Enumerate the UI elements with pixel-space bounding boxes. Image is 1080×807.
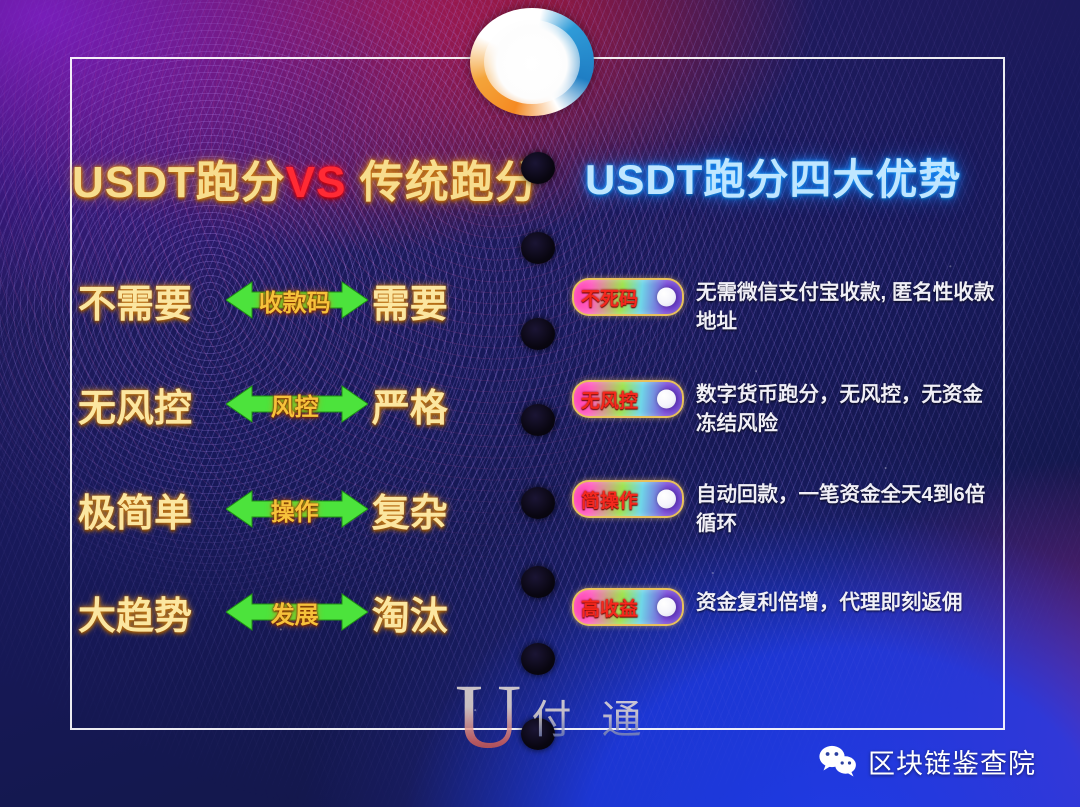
advantage-description: 数字货币跑分，无风控，无资金冻结风险 — [696, 380, 1002, 438]
advantage-badge: 简操作 — [572, 480, 684, 518]
divider-dot — [521, 487, 555, 519]
advantage-description: 无需微信支付宝收款, 匿名性收款地址 — [696, 278, 1002, 336]
comparison-left-term: 大趋势 — [78, 585, 226, 640]
advantage-description: 自动回款，一笔资金全天4到6倍循环 — [696, 480, 1002, 538]
flame-droplet-logo-icon — [470, 8, 594, 116]
divider-dot — [521, 318, 555, 350]
comparison-row: 大趋势 发展 淘汰 — [78, 580, 498, 644]
comparison-criterion-label: 收款码 — [259, 283, 331, 318]
advantage-badge-label: 高收益 — [574, 594, 638, 621]
divider-dot — [521, 404, 555, 436]
toggle-knob-icon — [657, 490, 676, 509]
watermark-letter: U — [455, 670, 521, 762]
advantage-badge: 不死码 — [572, 278, 684, 316]
title-left-vs: VS — [286, 158, 347, 207]
comparison-right-term: 严格 — [372, 377, 498, 432]
advantage-row: 高收益 资金复利倍增，代理即刻返佣 — [572, 588, 1002, 626]
wechat-account-name: 区块链鉴查院 — [868, 742, 1036, 781]
comparison-row: 无风控 风控 严格 — [78, 372, 498, 436]
advantage-row: 无风控 数字货币跑分，无风控，无资金冻结风险 — [572, 380, 1002, 438]
divider-dot — [521, 232, 555, 264]
comparison-left-term: 极简单 — [78, 482, 226, 537]
comparison-row: 极简单 操作 复杂 — [78, 477, 498, 541]
comparison-row: 不需要 收款码 需要 — [78, 268, 498, 332]
flame-shape — [508, 32, 556, 96]
advantage-badge-label: 无风控 — [574, 386, 638, 413]
center-watermark: U 付 通 — [455, 668, 685, 764]
double-arrow-icon: 收款码 — [226, 277, 364, 323]
double-arrow-icon: 发展 — [226, 589, 364, 635]
comparison-criterion-label: 发展 — [271, 595, 319, 630]
comparison-right-term: 复杂 — [372, 482, 498, 537]
comparison-criterion-label: 风控 — [271, 387, 319, 422]
double-arrow-icon: 风控 — [226, 381, 364, 427]
divider-dot — [521, 643, 555, 675]
comparison-left-term: 不需要 — [78, 273, 226, 328]
wechat-watermark: 区块链鉴查院 — [818, 742, 1036, 781]
divider-dot — [521, 566, 555, 598]
page-title-right: USDT跑分四大优势 — [585, 146, 961, 207]
advantage-badge-label: 不死码 — [574, 284, 638, 311]
title-left-gold-2: 传统跑分 — [346, 158, 539, 207]
comparison-left-term: 无风控 — [78, 377, 226, 432]
divider-dot — [521, 152, 555, 184]
page-title-left: USDT跑分VS 传统跑分 — [72, 146, 540, 210]
double-arrow-icon: 操作 — [226, 486, 364, 532]
title-left-gold-1: USDT跑分 — [72, 158, 286, 207]
toggle-knob-icon — [657, 390, 676, 409]
comparison-right-term: 淘汰 — [372, 585, 498, 640]
wechat-icon — [818, 745, 858, 778]
toggle-knob-icon — [657, 598, 676, 617]
comparison-right-term: 需要 — [372, 273, 498, 328]
comparison-criterion-label: 操作 — [271, 492, 319, 527]
divider-dot — [521, 718, 555, 750]
toggle-knob-icon — [657, 288, 676, 307]
advantage-description: 资金复利倍增，代理即刻返佣 — [696, 588, 963, 617]
advantage-badge: 无风控 — [572, 380, 684, 418]
advantage-badge-label: 简操作 — [574, 486, 638, 513]
poster-canvas: USDT跑分VS 传统跑分 USDT跑分四大优势 不需要 收款码 需要 无风控 … — [0, 0, 1080, 807]
advantage-row: 简操作 自动回款，一笔资金全天4到6倍循环 — [572, 480, 1002, 538]
advantage-row: 不死码 无需微信支付宝收款, 匿名性收款地址 — [572, 278, 1002, 336]
advantage-badge: 高收益 — [572, 588, 684, 626]
